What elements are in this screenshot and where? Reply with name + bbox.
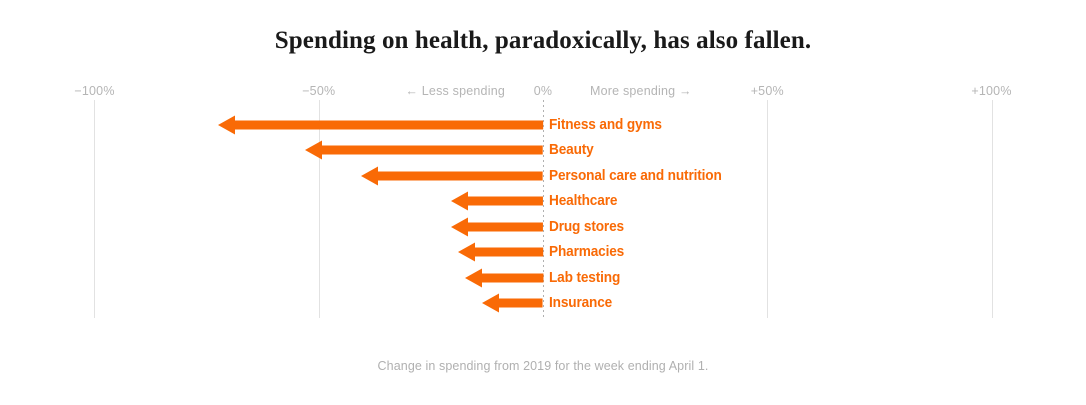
axis-tick-label: +100%: [971, 84, 1011, 98]
bar-shape: [361, 166, 543, 185]
bar-shape: [218, 115, 543, 134]
bar-shape: [465, 268, 543, 287]
plot-area: −100%−50%0%+50%+100%← Less spendingMore …: [0, 0, 1086, 405]
bar-row: Lab testing: [465, 267, 543, 289]
bar-arrow: [482, 292, 543, 314]
bar-arrow: [218, 114, 543, 136]
bar-row: Healthcare: [451, 190, 543, 212]
bar-arrow: [305, 139, 543, 161]
less-spending-note: ← Less spending: [405, 84, 505, 98]
bar-label: Lab testing: [549, 270, 620, 286]
axis-tick-label: −50%: [302, 84, 335, 98]
bar-row: Pharmacies: [458, 241, 543, 263]
bar-row: Beauty: [305, 139, 543, 161]
bar-arrow: [451, 190, 543, 212]
bar-label: Personal care and nutrition: [549, 168, 722, 184]
chart-caption: Change in spending from 2019 for the wee…: [0, 359, 1086, 373]
bar-label: Pharmacies: [549, 244, 624, 260]
bar-shape: [451, 192, 543, 211]
gridline: [94, 100, 95, 318]
bar-label: Drug stores: [549, 219, 624, 235]
bar-shape: [458, 243, 543, 262]
axis-tick-label: 0%: [534, 84, 552, 98]
bar-arrow: [465, 267, 543, 289]
bar-label: Beauty: [549, 142, 594, 158]
bar-shape: [305, 141, 543, 160]
bar-label: Insurance: [549, 295, 612, 311]
bar-row: Insurance: [482, 292, 543, 314]
chart-container: Spending on health, paradoxically, has a…: [0, 0, 1086, 405]
bar-arrow: [458, 241, 543, 263]
bar-arrow: [451, 216, 543, 238]
bar-row: Drug stores: [451, 216, 543, 238]
axis-tick-label: +50%: [751, 84, 784, 98]
bar-shape: [482, 294, 543, 313]
bar-label: Healthcare: [549, 193, 617, 209]
bar-row: Fitness and gyms: [218, 114, 543, 136]
more-spending-note: More spending →: [590, 84, 692, 98]
gridline: [992, 100, 993, 318]
bar-shape: [451, 217, 543, 236]
zero-line: [543, 100, 544, 318]
bar-row: Personal care and nutrition: [361, 165, 543, 187]
gridline: [767, 100, 768, 318]
bar-label: Fitness and gyms: [549, 117, 662, 133]
bar-arrow: [361, 165, 543, 187]
axis-tick-label: −100%: [74, 84, 114, 98]
